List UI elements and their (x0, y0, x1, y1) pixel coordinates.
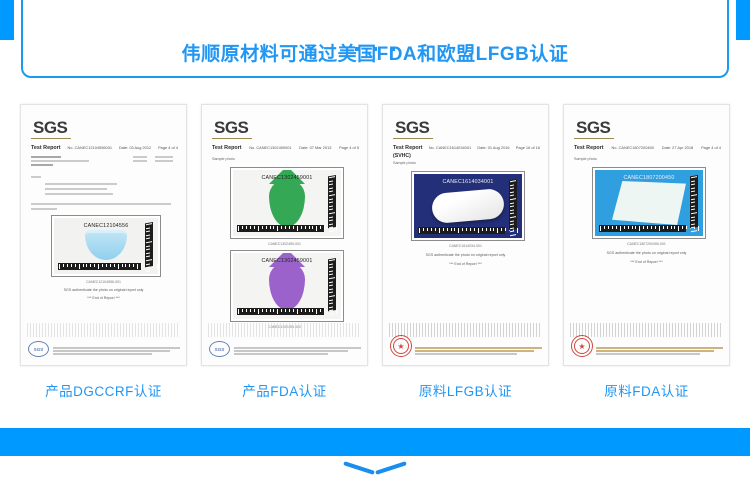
certificate-caption: 产品FDA认证 (201, 380, 368, 400)
ruler-bottom (418, 227, 504, 234)
authenticity-note: SGS authenticate the photo on original r… (564, 251, 729, 255)
sample-photo-code: CANEC1302459001 (233, 175, 341, 181)
sgs-logo-icon: SGS (576, 119, 610, 136)
photo-caption: CANEC1614034-001 (383, 244, 548, 248)
sample-photo: CANEC1807200450 (595, 170, 703, 236)
sample-object-pod (431, 188, 505, 224)
photo-caption: CANEC12104556-001 (21, 280, 186, 284)
page-root: 权威的资质 伟顺原材料可通过美国FDA和欧盟LFGB认证 SGS Test Re… (0, 0, 750, 479)
sgs-stamp: SGS (28, 341, 49, 357)
report-date: Date: 07 Mar 2013 (299, 145, 331, 151)
report-number: No. CANEC1614034001 (429, 145, 471, 151)
body-line (45, 188, 107, 190)
ruler-bottom (599, 225, 685, 232)
dot-2 (373, 47, 377, 51)
ruler-right (145, 222, 153, 267)
sample-photo-code: CANEC1807200450 (595, 175, 703, 181)
scroll-down-chevron-icon[interactable] (345, 466, 405, 479)
report-number: No. CANEC12104556001 (67, 145, 112, 151)
end-of-report-note: *** End of Report *** (564, 260, 729, 264)
sample-photo-frame: CANEC12104556 (51, 215, 161, 277)
body-line (31, 164, 53, 166)
sgs-logo-icon: SGS (33, 119, 67, 136)
body-line (133, 156, 147, 158)
sgs-logo-icon: SGS (214, 119, 248, 136)
dot-1 (355, 47, 359, 51)
report-title: Test Report (31, 145, 61, 153)
sample-photo: CANEC1614034001 (414, 174, 522, 238)
certificate-grid: SGS Test Report No. CANEC12104556001 Dat… (20, 104, 730, 400)
end-of-report-note: *** End of Report *** (21, 296, 186, 300)
report-header-row: Test Report No. CANEC1302459001 Date: 07… (212, 145, 359, 153)
end-of-report-note: *** End of Report *** (383, 262, 548, 266)
report-number: No. CANEC1807200450 (611, 145, 653, 151)
report-title: Test Report (393, 145, 423, 153)
certificate-item[interactable]: SGS Test Report No. CANEC1302459001 Date… (201, 104, 368, 400)
sample-photo-label: Sample photo (393, 161, 416, 165)
sample-object-droplet-purple (269, 262, 305, 310)
sample-object-droplet-green (269, 179, 305, 227)
report-date: Date: 01 Aug 2016 (477, 145, 509, 151)
body-line (45, 183, 117, 185)
sample-photo-code: CANEC1614034001 (414, 179, 522, 185)
cnas-stamp: ★ (390, 335, 412, 357)
certificate-item[interactable]: SGS Test Report No. CANEC12104556001 Dat… (20, 104, 187, 400)
ruler-right (328, 258, 336, 311)
body-line (45, 193, 113, 195)
certificate-image-1[interactable]: SGS Test Report No. CANEC12104556001 Dat… (20, 104, 187, 366)
sample-object-bowl (85, 230, 127, 260)
decorative-dots (355, 47, 395, 51)
sample-photo: CANEC1302459001 (233, 170, 341, 236)
dot-3 (391, 47, 395, 51)
photo-caption: CANEC1302459-001 (202, 242, 367, 246)
sample-photo-label: Sample photo (574, 157, 597, 161)
report-subtitle: (SVHC) (393, 153, 411, 159)
sample-photo-frame: CANEC1614034001 (411, 171, 525, 241)
certificate-caption: 原料FDA认证 (563, 380, 730, 400)
chevron-right-stroke (375, 461, 407, 475)
sample-photo: CANEC1302459001 (233, 253, 341, 319)
footer-hatch (27, 323, 180, 337)
sample-photo-frame: CANEC1302459001 (230, 250, 344, 322)
body-line (155, 160, 173, 162)
body-line (133, 160, 147, 162)
certificate-item[interactable]: SGS Test Report No. CANEC1807200450 Date… (563, 104, 730, 400)
report-number: No. CANEC1302459001 (249, 145, 291, 151)
stamp-oval-icon: SGS (209, 341, 230, 357)
certificate-image-2[interactable]: SGS Test Report No. CANEC1302459001 Date… (201, 104, 368, 366)
report-date: Date: 03 Aug 2012 (119, 145, 151, 151)
certificate-image-3[interactable]: SGS Test Report No. CANEC1614034001 Date… (382, 104, 549, 366)
left-accent-bar (0, 0, 14, 40)
sample-object-sheet (612, 181, 686, 225)
report-header-row: Test Report No. CANEC12104556001 Date: 0… (31, 145, 178, 153)
certificate-footer: SGS (21, 321, 186, 361)
report-page: Page 16 of 16 (516, 145, 540, 151)
sgs-logo-icon: SGS (395, 119, 429, 136)
stamp-star-icon: ★ (390, 335, 412, 357)
ruler-bottom (237, 225, 323, 232)
certificate-footer: SGS (202, 321, 367, 361)
body-line (31, 208, 57, 210)
footer-contact-lines (53, 347, 180, 356)
bottom-accent-bar (0, 428, 750, 456)
banner-box: 权威的资质 伟顺原材料可通过美国FDA和欧盟LFGB认证 (21, 0, 729, 78)
ruler-right (509, 179, 517, 230)
sample-photo: CANEC12104556 (54, 218, 158, 274)
sample-photo-frame: CANEC1302459001 (230, 167, 344, 239)
certificate-footer: ★ (564, 321, 729, 361)
certificate-footer: ★ (383, 321, 548, 361)
photo-caption: CANEC1807200450-001 (564, 242, 729, 246)
footer-hatch (208, 323, 361, 337)
stamp-star-icon: ★ (571, 335, 593, 357)
body-line (31, 156, 61, 158)
body-line (31, 203, 171, 205)
footer-contact-lines (415, 347, 542, 356)
report-title: Test Report (574, 145, 604, 153)
authenticity-note: SGS authenticate the photo on original r… (21, 288, 186, 292)
report-page: Page 4 of 5 (339, 145, 359, 151)
ruler-bottom (58, 263, 141, 270)
certificate-image-4[interactable]: SGS Test Report No. CANEC1807200450 Date… (563, 104, 730, 366)
report-title: Test Report (212, 145, 242, 153)
certificate-caption: 原料LFGB认证 (382, 380, 549, 400)
report-header-row: Test Report No. CANEC1807200450 Date: 27… (574, 145, 721, 153)
sample-photo-code: CANEC12104556 (54, 223, 158, 229)
cnas-stamp: ★ (571, 335, 593, 357)
right-accent-bar (736, 0, 750, 40)
certificate-item[interactable]: SGS Test Report No. CANEC1614034001 Date… (382, 104, 549, 400)
footer-contact-lines (596, 347, 723, 356)
ruler-bottom (237, 308, 323, 315)
sgs-stamp: SGS (209, 341, 230, 357)
banner-headline: 伟顺原材料可通过美国FDA和欧盟LFGB认证 (23, 39, 727, 66)
report-page: Page 4 of 4 (701, 145, 721, 151)
certificate-caption: 产品DGCCRF认证 (20, 380, 187, 400)
sample-photo-code: CANEC1302459001 (233, 258, 341, 264)
body-line (31, 160, 89, 162)
ruler-right (690, 175, 698, 228)
report-date: Date: 27 Apr 2018 (662, 145, 693, 151)
footer-contact-lines (234, 347, 361, 356)
sample-photo-frame: CANEC1807200450 (592, 167, 706, 239)
report-header-row: Test Report No. CANEC1614034001 Date: 01… (393, 145, 540, 153)
authenticity-note: SGS authenticate the photo on original r… (383, 253, 548, 257)
report-page: Page 4 of 4 (158, 145, 178, 151)
chevron-left-stroke (343, 461, 375, 475)
body-line (155, 156, 173, 158)
stamp-oval-icon: SGS (28, 341, 49, 357)
body-line (31, 176, 41, 178)
ruler-right (328, 175, 336, 228)
sample-photo-label: Sample photo (212, 157, 235, 161)
